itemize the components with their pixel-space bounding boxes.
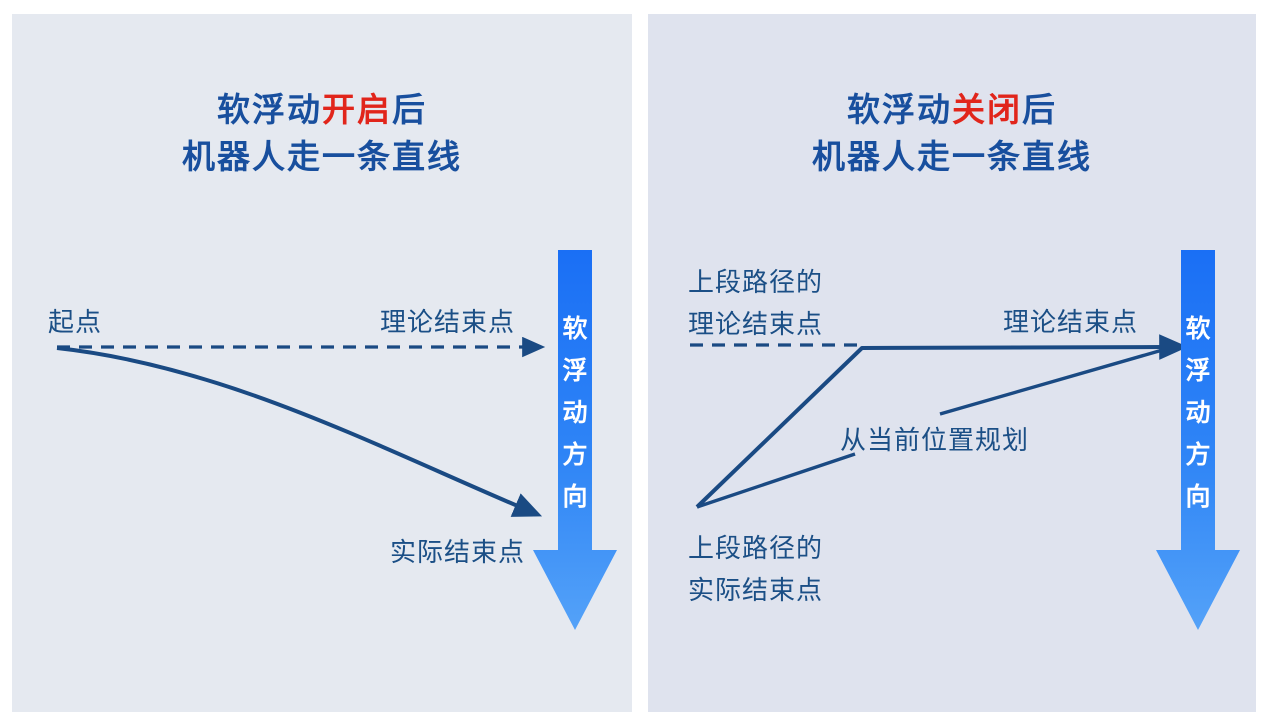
direction-char-0: 软 [1156,308,1240,350]
panel-right-title-line1: 软浮动关闭后 [648,86,1256,133]
leader-line-upper [940,349,1166,414]
label-prev-actual-end-line1: 上段路径的 [688,532,823,565]
direction-char-1: 浮 [533,350,617,392]
label-prev-theoretical-end-line2: 理论结束点 [688,308,823,341]
direction-arrow-label-right: 软 浮 动 方 向 [1156,308,1240,518]
direction-char-0: 软 [533,308,617,350]
panel-right-title-line2: 机器人走一条直线 [648,133,1256,180]
label-prev-actual-end-line2: 实际结束点 [688,574,823,607]
direction-char-3: 方 [1156,434,1240,476]
direction-char-2: 动 [1156,392,1240,434]
title-highlight: 关闭 [952,91,1022,128]
title-suffix: 后 [1022,91,1057,128]
label-theoretical-end-point: 理论结束点 [380,306,515,339]
panel-soft-float-on: 软浮动开启后 机器人走一条直线 起点 理论结束点 实际结束点 [12,14,632,712]
panel-soft-float-off: 软浮动关闭后 机器人走一条直线 上段路径的 理论结束点 理论结束点 从当前位置规… [648,14,1256,712]
panel-left-title-line2: 机器人走一条直线 [12,133,632,180]
direction-char-3: 方 [533,434,617,476]
panel-left-title: 软浮动开启后 机器人走一条直线 [12,86,632,180]
soft-float-direction-arrow-left: 软 浮 动 方 向 [533,250,617,630]
label-start-point: 起点 [48,306,102,339]
label-actual-end-point: 实际结束点 [390,536,525,569]
direction-char-4: 向 [1156,476,1240,518]
direction-char-1: 浮 [1156,350,1240,392]
direction-arrow-label-left: 软 浮 动 方 向 [533,308,617,518]
title-prefix: 软浮动 [847,91,952,128]
label-theoretical-end-point: 理论结束点 [1003,306,1138,339]
title-prefix: 软浮动 [217,91,322,128]
soft-float-direction-arrow-right: 软 浮 动 方 向 [1156,250,1240,630]
panel-right-title: 软浮动关闭后 机器人走一条直线 [648,86,1256,180]
panel-left-title-line1: 软浮动开启后 [12,86,632,133]
actual-path-curve [57,348,520,507]
direction-char-2: 动 [533,392,617,434]
leader-line-lower [697,454,855,507]
direction-char-4: 向 [533,476,617,518]
label-prev-theoretical-end-line1: 上段路径的 [688,266,823,299]
diagram-canvas: 软浮动开启后 机器人走一条直线 起点 理论结束点 实际结束点 [0,0,1280,725]
label-plan-from-current-position: 从当前位置规划 [840,424,1029,457]
title-suffix: 后 [392,91,427,128]
title-highlight: 开启 [322,91,392,128]
